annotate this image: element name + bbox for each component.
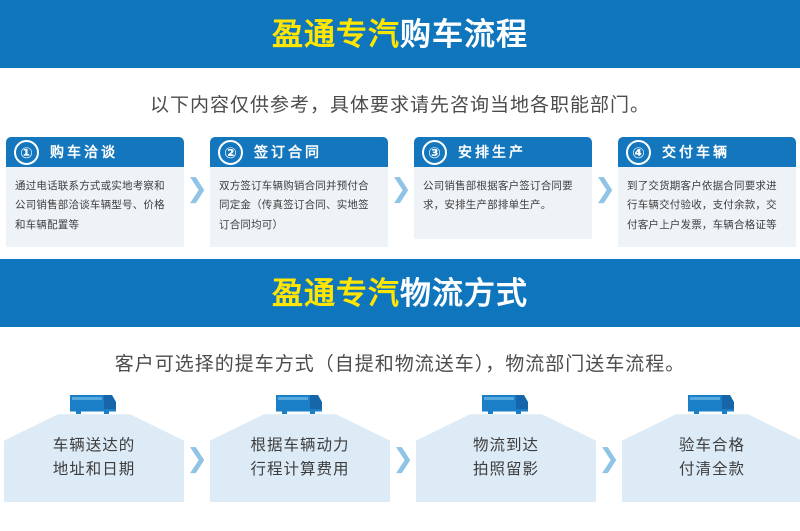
step-card-3-body: 公司销售部根据客户签订合同要求，安排生产部排单生产。 (414, 167, 592, 239)
chevron-right-icon: ❯ (184, 137, 210, 239)
logistics-card-4-line1: 验车合格 (679, 434, 745, 458)
chevron-right-icon: ❯ (390, 414, 416, 502)
step-card-4-header: ④ 交付车辆 (618, 137, 796, 167)
logistics-card-2-line2: 行程计算费用 (250, 458, 349, 482)
purchase-subtitle: 以下内容仅供参考，具体要求请先咨询当地各职能部门。 (0, 90, 800, 117)
logistics-banner-title: 盈通专汽物流方式 (272, 278, 528, 309)
step-number-badge-4: ④ (626, 140, 651, 165)
logistics-card-3-line2: 拍照留影 (473, 458, 539, 482)
step-card-3[interactable]: ③ 安排生产 公司销售部根据客户签订合同要求，安排生产部排单生产。 (414, 137, 592, 239)
step-card-1-header: ① 购车洽谈 (6, 137, 184, 167)
chevron-right-icon: ❯ (184, 414, 210, 502)
step-card-4-title: 交付车辆 (662, 142, 730, 162)
logistics-subtitle: 客户可选择的提车方式（自提和物流送车），物流部门送车流程。 (0, 349, 800, 376)
step-card-1-title: 购车洽谈 (50, 142, 118, 162)
logistics-banner-brand: 盈通专汽 (272, 276, 400, 311)
logistics-card-3-shape: 物流到达 拍照留影 (416, 414, 596, 502)
chevron-right-icon: ❯ (388, 137, 414, 239)
logistics-card-2-line1: 根据车辆动力 (250, 434, 349, 458)
logistics-card-1-line1: 车辆送达的 (53, 434, 136, 458)
step-number-badge-2: ② (218, 140, 243, 165)
step-card-4-body: 到了交货期客户依据合同要求进行车辆交付验收，支付余款，交付客户上户发票，车辆合格… (618, 167, 796, 247)
logistics-card-4[interactable]: 验车合格 付清全款 (622, 392, 800, 502)
logistics-card-2[interactable]: 根据车辆动力 行程计算费用 (210, 392, 390, 502)
step-number-badge-1: ① (14, 140, 39, 165)
purchase-banner-brand: 盈通专汽 (272, 17, 400, 52)
logistics-steps-row: 车辆送达的 地址和日期 ❯ 根据车辆动力 行程计算费用 ❯ 物流 (0, 392, 800, 502)
logistics-banner: 盈通专汽物流方式 (0, 259, 800, 327)
step-card-3-header: ③ 安排生产 (414, 137, 592, 167)
purchase-banner-rest: 购车流程 (400, 17, 528, 52)
step-number-badge-3: ③ (422, 140, 447, 165)
logistics-card-1[interactable]: 车辆送达的 地址和日期 (4, 392, 184, 502)
logistics-banner-rest: 物流方式 (400, 276, 528, 311)
step-card-2-body: 双方签订车辆购销合同并预付合同定金（传真签订合同、实地签订合同均可） (210, 167, 388, 247)
purchase-banner-title: 盈通专汽购车流程 (272, 19, 528, 50)
logistics-card-3-line1: 物流到达 (473, 434, 539, 458)
step-card-2[interactable]: ② 签订合同 双方签订车辆购销合同并预付合同定金（传真签订合同、实地签订合同均可… (210, 137, 388, 247)
purchase-steps-row: ① 购车洽谈 通过电话联系方式或实地考察和公司销售部洽谈车辆型号、价格和车辆配置… (0, 137, 800, 247)
step-card-1-body: 通过电话联系方式或实地考察和公司销售部洽谈车辆型号、价格和车辆配置等 (6, 167, 184, 247)
logistics-card-3[interactable]: 物流到达 拍照留影 (416, 392, 596, 502)
logistics-card-1-line2: 地址和日期 (53, 458, 136, 482)
purchase-banner: 盈通专汽购车流程 (0, 0, 800, 68)
logistics-card-1-shape: 车辆送达的 地址和日期 (4, 414, 184, 502)
step-card-2-header: ② 签订合同 (210, 137, 388, 167)
logistics-card-4-shape: 验车合格 付清全款 (622, 414, 800, 502)
step-card-2-title: 签订合同 (254, 142, 322, 162)
step-card-4[interactable]: ④ 交付车辆 到了交货期客户依据合同要求进行车辆交付验收，支付余款，交付客户上户… (618, 137, 796, 247)
chevron-right-icon: ❯ (592, 137, 618, 239)
section-divider (0, 247, 800, 259)
logistics-card-2-shape: 根据车辆动力 行程计算费用 (210, 414, 390, 502)
logistics-card-4-line2: 付清全款 (679, 458, 745, 482)
chevron-right-icon: ❯ (596, 414, 622, 502)
step-card-3-title: 安排生产 (458, 142, 526, 162)
step-card-1[interactable]: ① 购车洽谈 通过电话联系方式或实地考察和公司销售部洽谈车辆型号、价格和车辆配置… (6, 137, 184, 247)
